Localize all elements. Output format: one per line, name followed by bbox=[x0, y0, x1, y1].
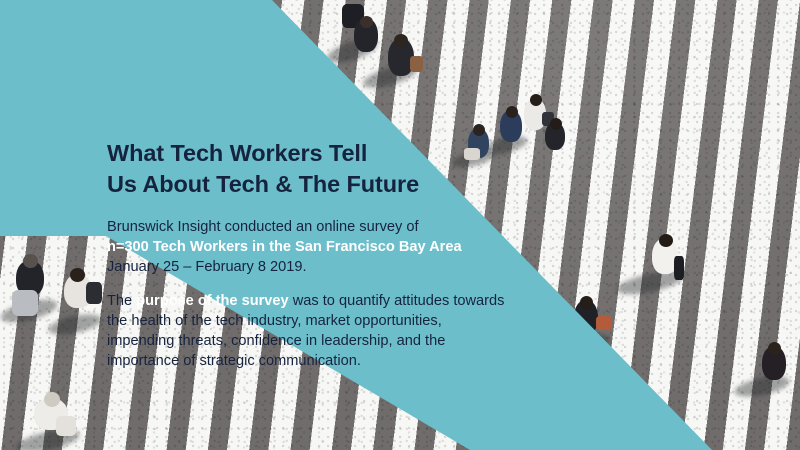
pedestrian-figure bbox=[752, 332, 798, 404]
purpose-line-3: the health of the tech industry, market … bbox=[107, 313, 442, 329]
survey-description-paragraph: Brunswick Insight conducted an online su… bbox=[107, 218, 527, 278]
purpose-line-4: impending threats, confidence in leaders… bbox=[107, 333, 445, 349]
survey-sample-highlight: n=300 Tech Workers in the San Francisco … bbox=[107, 239, 462, 255]
presentation-slide: What Tech Workers Tell Us About Tech & T… bbox=[0, 0, 800, 450]
purpose-after-text: was to quantify attitudes towards bbox=[289, 293, 505, 309]
purpose-highlight: purpose of the survey bbox=[136, 293, 288, 309]
survey-purpose-paragraph: The purpose of the survey was to quantif… bbox=[107, 292, 527, 372]
slide-content: What Tech Workers Tell Us About Tech & T… bbox=[107, 138, 527, 372]
title-line-2: Us About Tech & The Future bbox=[107, 171, 419, 197]
pedestrian-figure bbox=[640, 222, 690, 300]
page-title: What Tech Workers Tell Us About Tech & T… bbox=[107, 138, 527, 199]
pedestrian-figure bbox=[52, 256, 108, 344]
survey-date-range: January 25 – February 8 2019. bbox=[107, 259, 307, 275]
pedestrian-figure bbox=[22, 386, 88, 450]
pedestrian-figure bbox=[537, 110, 573, 168]
purpose-line-5: importance of strategic communication. bbox=[107, 353, 361, 369]
pedestrian-figure bbox=[378, 22, 424, 96]
survey-intro-line: Brunswick Insight conducted an online su… bbox=[107, 219, 419, 235]
title-line-1: What Tech Workers Tell bbox=[107, 140, 367, 166]
purpose-lead-text: The bbox=[107, 293, 136, 309]
